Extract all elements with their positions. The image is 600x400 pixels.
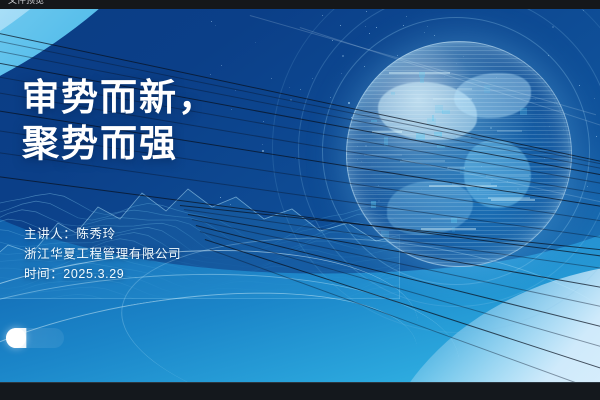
slide-title-line-1: 审势而新， bbox=[22, 75, 217, 121]
digital-globe bbox=[346, 41, 572, 267]
presenter-line: 主讲人：陈秀玲 bbox=[24, 224, 181, 244]
decorative-badge-dot bbox=[6, 328, 26, 348]
slide-title-line-2: 聚势而强 bbox=[22, 121, 217, 167]
organization-line: 浙江华夏工程管理有限公司 bbox=[24, 244, 181, 264]
globe-rim bbox=[346, 41, 572, 267]
slide-canvas: 审势而新， 聚势而强 主讲人：陈秀玲 浙江华夏工程管理有限公司 时间：2025.… bbox=[0, 9, 600, 382]
date-line: 时间：2025.3.29 bbox=[24, 264, 181, 284]
slide-subtitle: 主讲人：陈秀玲 浙江华夏工程管理有限公司 时间：2025.3.29 bbox=[24, 224, 181, 284]
window-title: 文件预览 bbox=[8, 0, 44, 5]
slide-title: 审势而新， 聚势而强 bbox=[22, 75, 217, 167]
window-titlebar: 文件预览 bbox=[0, 0, 600, 9]
document-preview-viewer: 文件预览 bbox=[0, 0, 600, 400]
bottom-band-edge bbox=[0, 382, 600, 383]
viewer-bottom-band bbox=[0, 382, 600, 400]
